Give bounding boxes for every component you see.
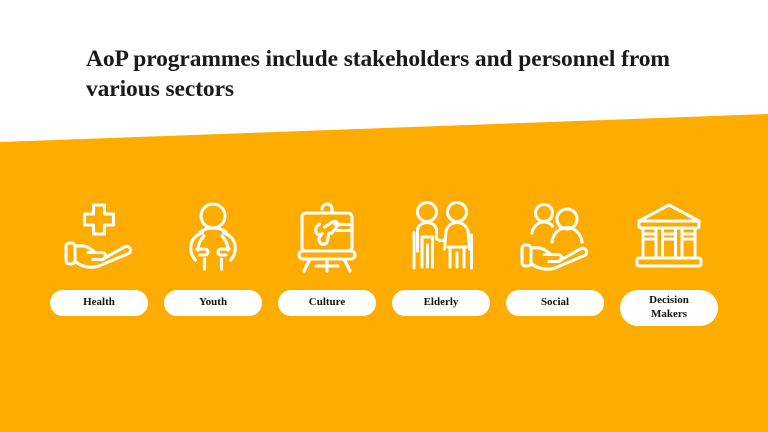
sector-label-elderly: Elderly — [392, 290, 490, 316]
hand-holding-people-icon — [509, 190, 601, 282]
slide-canvas: AoP programmes include stakeholders and … — [0, 0, 768, 432]
sector-item-decision-makers[interactable]: Decision Makers — [612, 190, 726, 326]
elderly-couple-with-canes-icon — [395, 190, 487, 282]
page-title: AoP programmes include stakeholders and … — [86, 44, 696, 104]
hand-holding-medical-cross-icon — [53, 190, 145, 282]
sector-label-culture: Culture — [278, 290, 376, 316]
sector-label-decision-makers: Decision Makers — [620, 290, 718, 326]
sector-item-culture[interactable]: Culture — [270, 190, 384, 316]
classical-government-building-icon — [623, 190, 715, 282]
sector-item-social[interactable]: Social — [498, 190, 612, 316]
easel-paintbrush-icon — [281, 190, 373, 282]
sector-item-youth[interactable]: Youth — [156, 190, 270, 316]
sector-item-health[interactable]: Health — [42, 190, 156, 316]
sector-list: Health Youth — [0, 190, 768, 326]
child-with-backpack-icon — [167, 190, 259, 282]
sector-label-social: Social — [506, 290, 604, 316]
sector-item-elderly[interactable]: Elderly — [384, 190, 498, 316]
sector-label-youth: Youth — [164, 290, 262, 316]
sector-label-health: Health — [50, 290, 148, 316]
